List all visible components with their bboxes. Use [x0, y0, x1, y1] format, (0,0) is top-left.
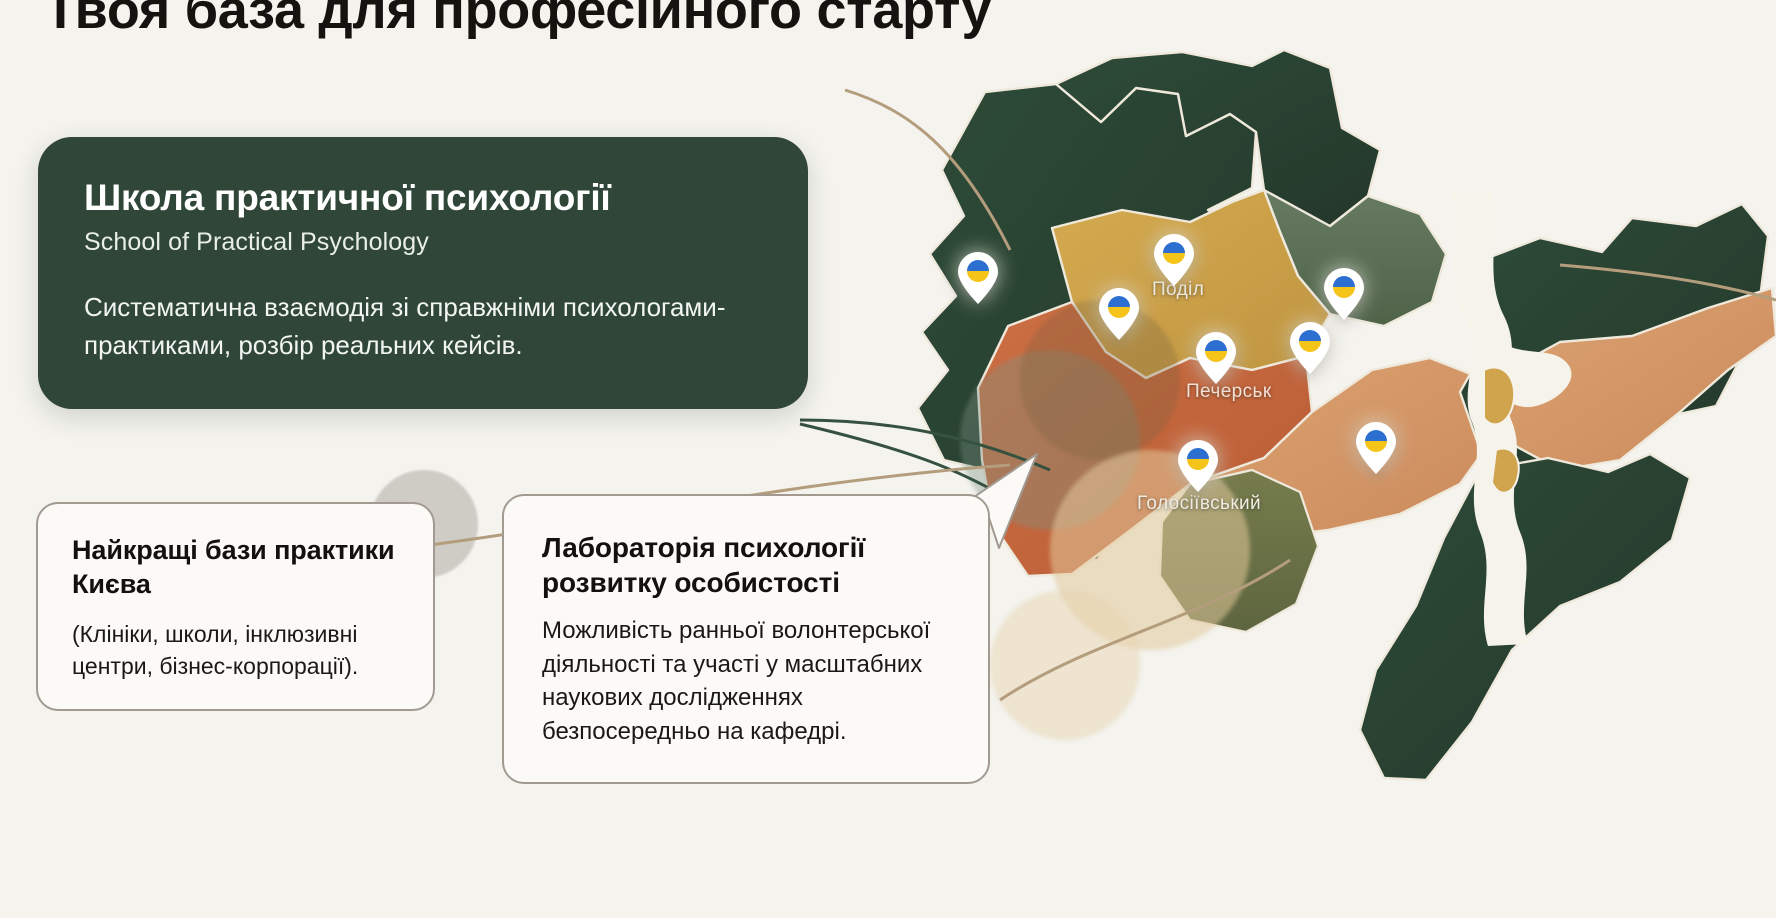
page-title: Твоя база для професійного старту — [44, 0, 991, 39]
map-pin-icon-2[interactable] — [1152, 232, 1196, 288]
school-card-body: Систематична взаємодія зі справжніми пси… — [84, 289, 762, 364]
laboratory-card: Лабораторія психології розвитку особисто… — [502, 494, 990, 784]
map-pin-icon-3[interactable] — [1097, 286, 1141, 342]
practice-bases-card-title: Найкращі бази практики Києва — [72, 534, 399, 602]
map-pin-icon-4[interactable] — [1194, 330, 1238, 386]
map-pin-icon-8[interactable] — [1354, 420, 1398, 476]
dnipro-island-2 — [1492, 448, 1519, 492]
dnipro-island — [1484, 368, 1514, 425]
map-pin-icon-1[interactable] — [956, 250, 1000, 306]
laboratory-card-body: Можливість ранньої волонтерської діяльно… — [542, 614, 952, 748]
practice-bases-card: Найкращі бази практики Києва (Клініки, ш… — [36, 502, 435, 711]
map-pin-icon-6[interactable] — [1288, 320, 1332, 376]
infographic-canvas: Поділ Печерськ Голосіївський Твоя база — [0, 0, 1776, 918]
school-card: Школа практичної психології School of Pr… — [38, 137, 808, 409]
map-pin-icon-7[interactable] — [1176, 438, 1220, 494]
kyiv-district-map — [860, 40, 1776, 870]
school-card-title: Школа практичної психології — [84, 177, 762, 218]
school-card-subtitle: School of Practical Psychology — [84, 228, 762, 257]
laboratory-card-title: Лабораторія психології розвитку особисто… — [542, 530, 952, 600]
district-olive — [1160, 470, 1318, 632]
map-pin-icon-5[interactable] — [1322, 266, 1366, 322]
practice-bases-card-body: (Клініки, школи, інклюзивні центри, бізн… — [72, 618, 399, 683]
